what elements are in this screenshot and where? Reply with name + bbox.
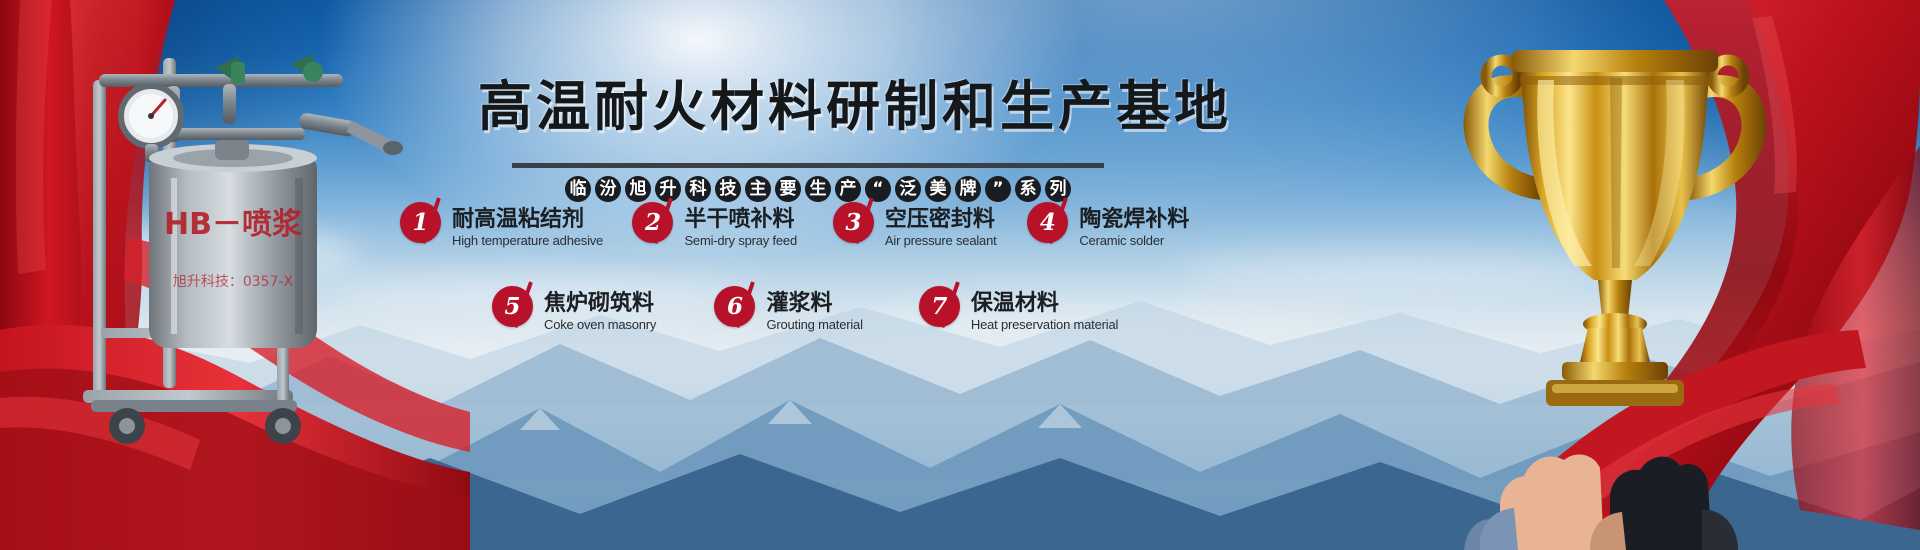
item-label-en: High temperature adhesive: [452, 233, 603, 248]
banner-content: 高温耐火材料研制和生产基地 临汾旭升科技主要生产“泛美牌”系列 1 耐高温粘结剂…: [0, 0, 1920, 550]
subtitle-char: 美: [925, 176, 951, 202]
item-label-zh: 焦炉砌筑料: [544, 285, 654, 317]
list-item[interactable]: 5 焦炉砌筑料 Coke oven masonry: [492, 286, 710, 344]
subtitle-char: 牌: [955, 176, 981, 202]
subtitle-char: 汾: [595, 176, 621, 202]
subtitle-char: 要: [775, 176, 801, 202]
item-label-zh: 空压密封料: [885, 201, 995, 233]
item-label-zh: 半干喷补料: [684, 201, 794, 233]
banner-subtitle: 临汾旭升科技主要生产“泛美牌”系列: [478, 176, 1158, 202]
item-label-en: Semi-dry spray feed: [684, 233, 797, 248]
list-item[interactable]: 3 空压密封料 Air pressure sealant: [833, 202, 1023, 260]
item-label-en: Heat preservation material: [971, 317, 1118, 332]
list-item[interactable]: 1 耐高温粘结剂 High temperature adhesive: [400, 202, 628, 260]
subtitle-char: 技: [715, 176, 741, 202]
subtitle-char: 泛: [895, 176, 921, 202]
title-divider: [512, 163, 1104, 168]
subtitle-char: 临: [565, 176, 591, 202]
subtitle-char: 主: [745, 176, 771, 202]
list-item[interactable]: 2 半干喷补料 Semi-dry spray feed: [632, 202, 828, 260]
list-item[interactable]: 4 陶瓷焊补料 Ceramic solder: [1027, 202, 1207, 260]
subtitle-char: 产: [835, 176, 861, 202]
subtitle-char: ”: [985, 176, 1011, 202]
promo-banner: HB－喷浆 旭升科技：0357-X 高温耐火材料研制和生产基地 临汾旭升科技主要…: [0, 0, 1920, 550]
subtitle-char: 生: [805, 176, 831, 202]
item-label-en: Grouting material: [766, 317, 862, 332]
item-label-en: Coke oven masonry: [544, 317, 656, 332]
subtitle-char: 旭: [625, 176, 651, 202]
subtitle-char: 科: [685, 176, 711, 202]
item-label-zh: 耐高温粘结剂: [452, 201, 584, 233]
page-title: 高温耐火材料研制和生产基地: [478, 62, 1158, 141]
product-row-2: 5 焦炉砌筑料 Coke oven masonry 6 灌浆料 Grouting…: [492, 286, 1200, 348]
item-label-zh: 灌浆料: [766, 285, 832, 317]
product-row-1: 1 耐高温粘结剂 High temperature adhesive 2 半干喷…: [400, 202, 1200, 264]
list-item[interactable]: 6 灌浆料 Grouting material: [714, 286, 914, 344]
item-label-zh: 陶瓷焊补料: [1079, 201, 1189, 233]
list-item[interactable]: 7 保温材料 Heat preservation material: [919, 286, 1139, 344]
item-label-en: Air pressure sealant: [885, 233, 997, 248]
item-label-en: Ceramic solder: [1079, 233, 1164, 248]
subtitle-char: 系: [1015, 176, 1041, 202]
item-label-zh: 保温材料: [971, 285, 1059, 317]
product-list: 1 耐高温粘结剂 High temperature adhesive 2 半干喷…: [400, 202, 1200, 348]
